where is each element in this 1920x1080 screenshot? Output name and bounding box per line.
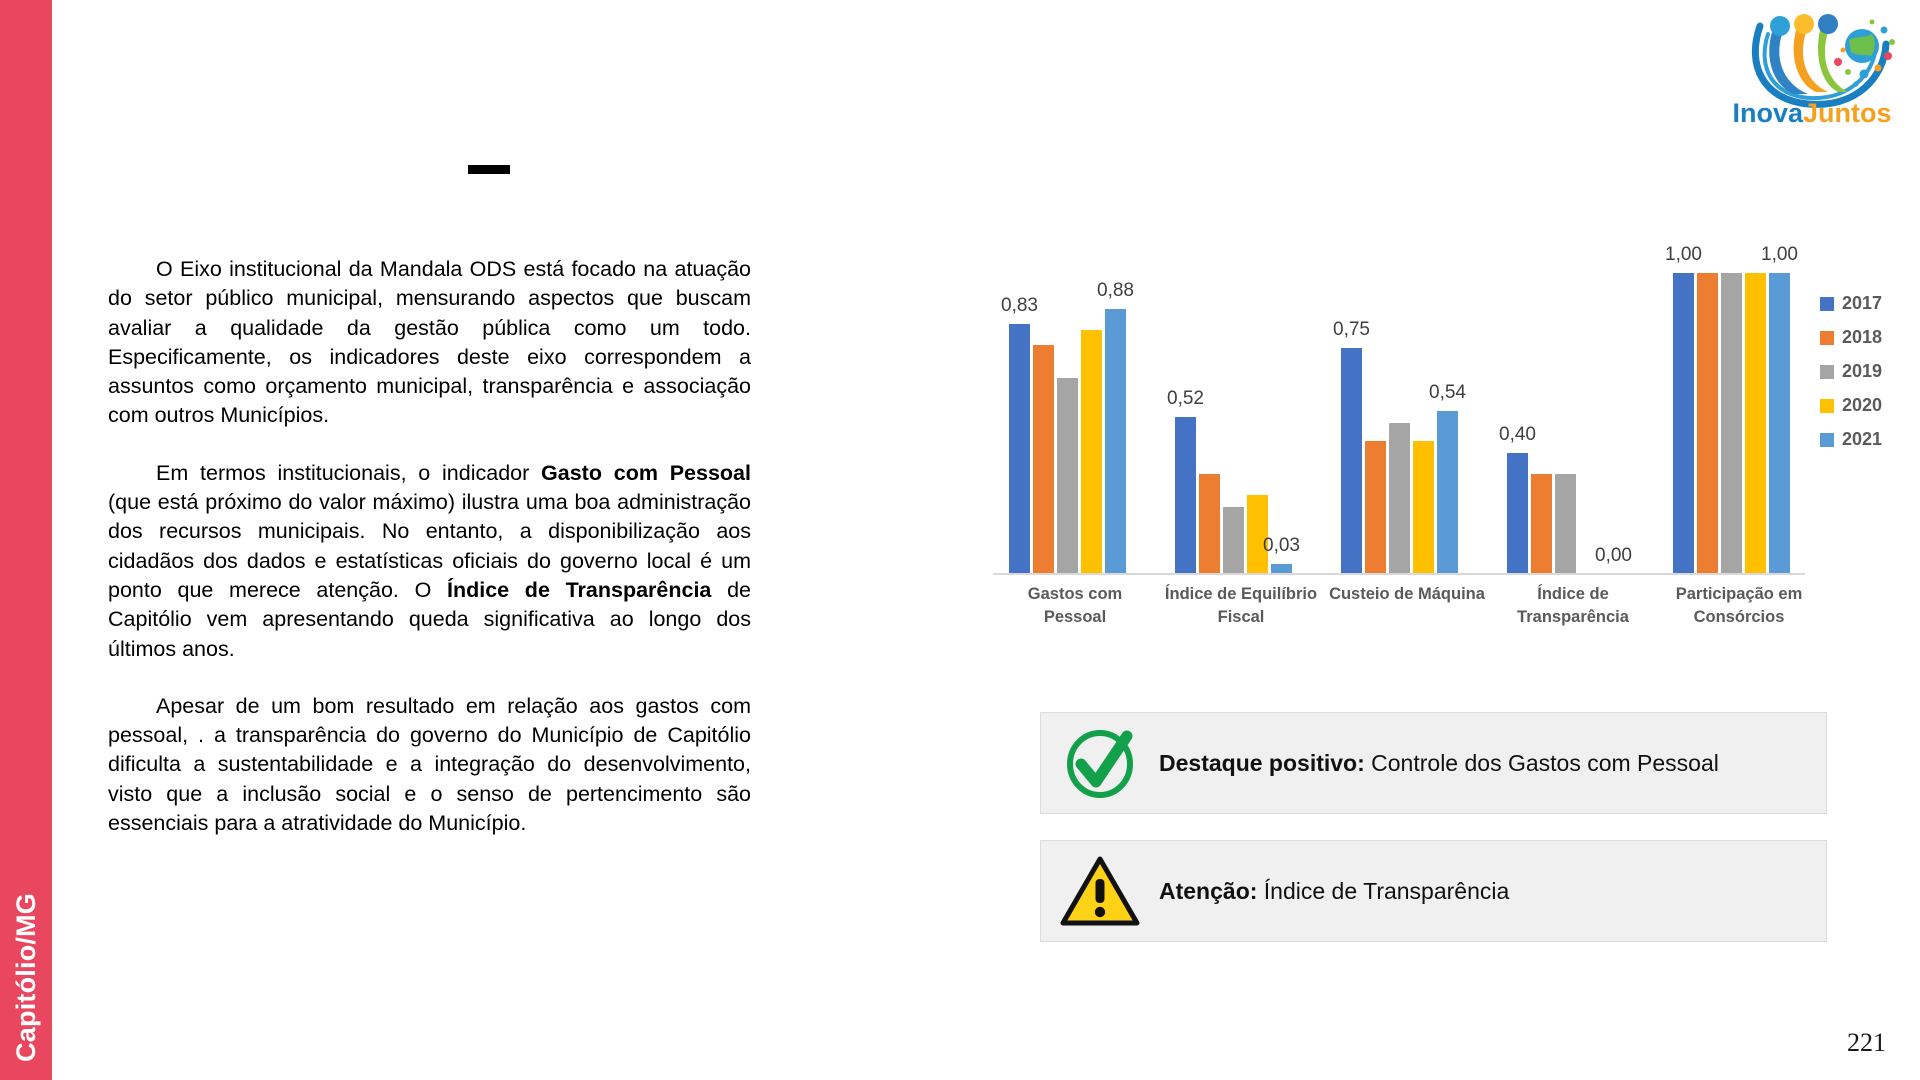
chart-category-label: Índice de Transparência (1493, 583, 1653, 629)
chart-bar (1531, 474, 1552, 573)
callout-warning-title: Atenção: (1159, 878, 1257, 904)
chart-bar-group-bars: 0,400,00 (1507, 273, 1639, 573)
chart-bar (1555, 474, 1576, 573)
callout-positive-body: Controle dos Gastos com Pessoal (1365, 750, 1719, 776)
chart-bar (1389, 423, 1410, 573)
chart-legend-item[interactable]: 2020 (1820, 392, 1920, 419)
chart-bar: 0,75 (1341, 348, 1362, 573)
chart-legend-label: 2021 (1842, 429, 1882, 450)
chart-bar: 0,88 (1105, 309, 1126, 573)
chart-category-label: Gastos com Pessoal (995, 583, 1155, 629)
check-circle-icon (1041, 724, 1159, 802)
chart-bar-group: 0,750,54 (1341, 273, 1473, 573)
chart-plot-area: 0,830,880,520,030,750,540,400,001,001,00 (985, 235, 1805, 575)
callout-positive-text: Destaque positivo: Controle dos Gastos c… (1159, 748, 1719, 778)
chart-legend-swatch (1820, 297, 1834, 311)
inovajuntos-logo: InovaJuntos (1716, 4, 1906, 129)
chart-bar: 0,40 (1507, 453, 1528, 573)
svg-text:InovaJuntos: InovaJuntos (1732, 98, 1891, 128)
chart-bar: 1,00 (1673, 273, 1694, 573)
chart-bar (1247, 495, 1268, 573)
paragraph-1: O Eixo institucional da Mandala ODS está… (108, 255, 751, 431)
indicators-bar-chart: 0,830,880,520,030,750,540,400,001,001,00… (985, 235, 1865, 655)
chart-legend-item[interactable]: 2017 (1820, 290, 1920, 317)
chart-legend-label: 2017 (1842, 293, 1882, 314)
warning-triangle-icon (1041, 855, 1159, 927)
chart-bar-value-label: 0,03 (1263, 535, 1300, 557)
title-dash-rule (468, 165, 510, 174)
chart-legend-item[interactable]: 2021 (1820, 426, 1920, 453)
chart-legend-swatch (1820, 433, 1834, 447)
chart-legend: 20172018201920202021 (1820, 290, 1920, 460)
sidebar-accent-bar: Capitólio/MG (0, 0, 52, 1080)
chart-bar-group-bars: 0,830,88 (1009, 273, 1141, 573)
chart-bar-value-label: 1,00 (1761, 244, 1798, 266)
paragraph-2: Em termos institucionais, o indicador Ga… (108, 459, 751, 664)
chart-bar-value-label: 0,83 (1001, 295, 1038, 317)
chart-legend-label: 2019 (1842, 361, 1882, 382)
chart-bar-group: 0,400,00 (1507, 273, 1639, 573)
chart-bar: 0,83 (1009, 324, 1030, 573)
chart-bar (1081, 330, 1102, 573)
chart-category-labels: Gastos com PessoalÍndice de Equilíbrio F… (985, 583, 1805, 643)
chart-bar-value-label: 1,00 (1665, 244, 1702, 266)
chart-legend-label: 2018 (1842, 327, 1882, 348)
chart-bar (1033, 345, 1054, 573)
chart-category-label: Índice de Equilíbrio Fiscal (1161, 583, 1321, 629)
chart-bar-group: 0,830,88 (1009, 273, 1141, 573)
chart-bar: 0,03 (1271, 564, 1292, 573)
callout-warning-body: Índice de Transparência (1257, 878, 1509, 904)
chart-x-axis-line (993, 573, 1805, 575)
callout-positive-title: Destaque positivo: (1159, 750, 1365, 776)
emphasis-indice-transparencia: Índice de Transparência (447, 578, 711, 602)
chart-bar-group: 0,520,03 (1175, 273, 1307, 573)
chart-bar-value-label: 0,40 (1499, 424, 1536, 446)
chart-bar (1697, 273, 1718, 573)
chart-legend-swatch (1820, 365, 1834, 379)
chart-bar: 1,00 (1769, 273, 1790, 573)
chart-bar-group-bars: 0,750,54 (1341, 273, 1473, 573)
chart-bar-value-label: 0,52 (1167, 388, 1204, 410)
chart-bar (1199, 474, 1220, 573)
chart-legend-label: 2020 (1842, 395, 1882, 416)
chart-bar-group-bars: 0,520,03 (1175, 273, 1307, 573)
chart-bar (1223, 507, 1244, 573)
chart-legend-item[interactable]: 2018 (1820, 324, 1920, 351)
chart-bar-group: 1,001,00 (1673, 273, 1805, 573)
chart-bar-value-label: 0,88 (1097, 280, 1134, 302)
sidebar-location-label: Capitólio/MG (0, 893, 52, 1062)
chart-category-label: Custeio de Máquina (1327, 583, 1487, 606)
page-number: 221 (1847, 1028, 1886, 1058)
body-text-column: O Eixo institucional da Mandala ODS está… (108, 255, 751, 838)
logo-mark-icon: InovaJuntos (1716, 4, 1906, 129)
callout-positive: Destaque positivo: Controle dos Gastos c… (1040, 712, 1827, 814)
chart-legend-swatch (1820, 331, 1834, 345)
chart-bar (1057, 378, 1078, 573)
paragraph-3: Apesar de um bom resultado em relação ao… (108, 692, 751, 838)
chart-bar (1745, 273, 1766, 573)
callout-warning-text: Atenção: Índice de Transparência (1159, 876, 1509, 906)
chart-bar (1721, 273, 1742, 573)
chart-bar (1365, 441, 1386, 573)
chart-category-label: Participação em Consórcios (1659, 583, 1819, 629)
chart-bar: 0,52 (1175, 417, 1196, 573)
chart-bar-value-label: 0,00 (1595, 545, 1632, 567)
callout-warning: Atenção: Índice de Transparência (1040, 840, 1827, 942)
chart-legend-swatch (1820, 399, 1834, 413)
chart-bar (1413, 441, 1434, 573)
chart-bar-value-label: 0,75 (1333, 319, 1370, 341)
chart-bar-group-bars: 1,001,00 (1673, 273, 1805, 573)
chart-bar: 0,54 (1437, 411, 1458, 573)
chart-bar-value-label: 0,54 (1429, 382, 1466, 404)
emphasis-gasto-com-pessoal: Gasto com Pessoal (541, 461, 751, 485)
chart-legend-item[interactable]: 2019 (1820, 358, 1920, 385)
